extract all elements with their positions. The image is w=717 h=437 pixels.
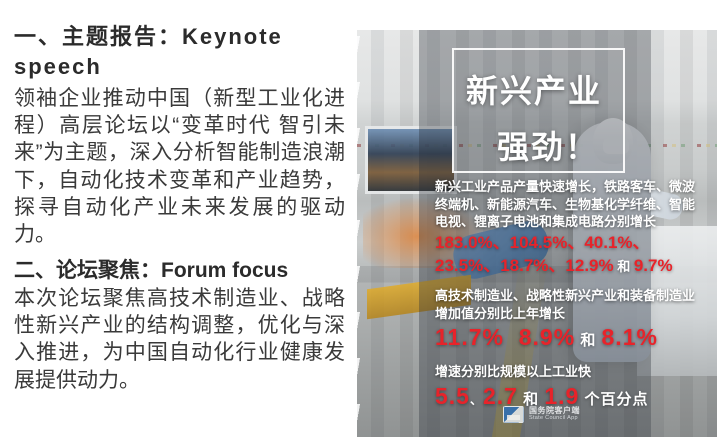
stat-3-suffix: 个百分点 (579, 391, 648, 408)
overlay-stats: 新兴工业产品产量快速增长，铁路客车、微波终端机、新能源汽车、生物基化学纤维、智能… (435, 178, 703, 412)
stat-2-b: 8.9% (519, 324, 575, 350)
stat-block-2-values: 11.7% 8.9% 和 8.1% (435, 322, 703, 354)
factory-photo-panel: 新兴产业 强劲！ 新兴工业产品产量快速增长，铁路客车、微波终端机、新能源汽车、生… (357, 30, 717, 437)
stat-3-sep: 、 (470, 393, 483, 407)
logo-label-en: State Council App (529, 416, 580, 422)
section-one-heading: 一、主题报告：Keynote speech (14, 22, 345, 83)
section-two-heading: 二、论坛聚焦：Forum focus (14, 257, 345, 284)
section-one-body: 领袖企业推动中国（新型工业化进程）高层论坛以“变革时代 智引未来”为主题，深入分… (14, 85, 345, 249)
stat-1-v2b: 9.7% (634, 256, 673, 275)
stat-block-2-lead: 高技术制造业、战略性新兴产业和装备制造业增加值分别比上年增长 (435, 287, 703, 322)
stat-1-v2a: 23.5%、18.7%、12.9% (435, 256, 614, 275)
stat-2-a: 11.7% (435, 324, 504, 350)
section-two-body: 本次论坛聚焦高技术制造业、战略性新兴产业的结构调整，优化与深入推进，为中国自动化… (14, 285, 345, 394)
stat-3-a: 5.5 (435, 383, 470, 409)
slide-root: 一、主题报告：Keynote speech 领袖企业推动中国（新型工业化进程）高… (0, 0, 717, 437)
overlay-title-line-2: 强劲！ (497, 122, 599, 168)
stat-2-c: 8.1% (602, 324, 658, 350)
stat-block-1-values-line-2: 23.5%、18.7%、12.9% 和 9.7% (435, 254, 703, 277)
state-council-logo-icon (503, 406, 524, 423)
stat-block-3-lead: 增速分别比规模以上工业快 (435, 363, 703, 381)
stat-gap-1 (435, 278, 703, 287)
stat-1-join: 和 (614, 259, 634, 274)
state-council-logo-text: 国务院客户端 State Council App (529, 407, 580, 421)
overlay-title-line-1: 新兴产业 (466, 66, 602, 112)
left-text-column: 一、主题报告：Keynote speech 领袖企业推动中国（新型工业化进程）高… (0, 0, 357, 437)
stat-2-join: 和 (575, 332, 601, 349)
stat-block-1-values-line-1: 183.0%、104.5%、40.1%、 (435, 231, 703, 254)
state-council-app-logo: 国务院客户端 State Council App (503, 406, 580, 423)
stat-block-1-lead: 新兴工业产品产量快速增长，铁路客车、微波终端机、新能源汽车、生物基化学纤维、智能… (435, 178, 703, 231)
stat-3-b: 2.7 (483, 383, 518, 409)
stat-3-c: 1.9 (544, 383, 579, 409)
stat-gap-2 (435, 354, 703, 363)
